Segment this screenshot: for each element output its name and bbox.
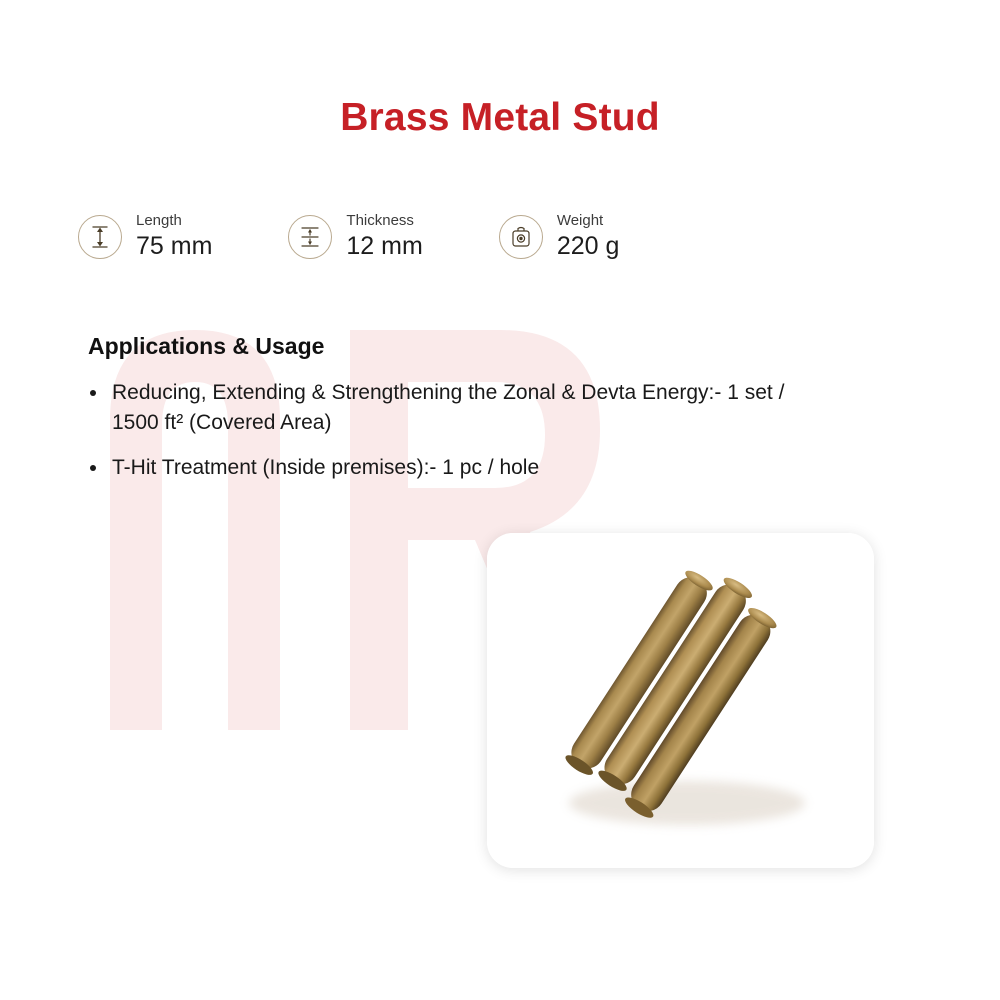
product-image-card: Three brass metal stud rods bbox=[487, 533, 874, 868]
thickness-icon bbox=[288, 215, 332, 259]
spec-weight-label: Weight bbox=[557, 213, 620, 230]
spec-weight: Weight 220 g bbox=[499, 213, 620, 260]
list-item: T-Hit Treatment (Inside premises):- 1 pc… bbox=[78, 453, 818, 483]
page-title: Brass Metal Stud bbox=[0, 96, 1000, 140]
spec-thickness-label: Thickness bbox=[346, 213, 422, 230]
spec-thickness: Thickness 12 mm bbox=[288, 213, 422, 260]
spec-row: Length 75 mm Thick bbox=[78, 213, 619, 260]
spec-length-label: Length bbox=[136, 213, 212, 230]
spec-length-value: 75 mm bbox=[136, 233, 212, 261]
applications-heading: Applications & Usage bbox=[88, 333, 324, 360]
spec-length: Length 75 mm bbox=[78, 213, 212, 260]
applications-list: Reducing, Extending & Strengthening the … bbox=[78, 378, 818, 498]
length-arrow-icon bbox=[78, 215, 122, 259]
spec-thickness-value: 12 mm bbox=[346, 233, 422, 261]
list-item: Reducing, Extending & Strengthening the … bbox=[78, 378, 818, 438]
product-info-page: Brass Metal Stud Length 75 mm bbox=[0, 0, 1000, 1000]
product-photo bbox=[487, 533, 874, 868]
spec-weight-value: 220 g bbox=[557, 233, 620, 261]
weight-icon bbox=[499, 215, 543, 259]
